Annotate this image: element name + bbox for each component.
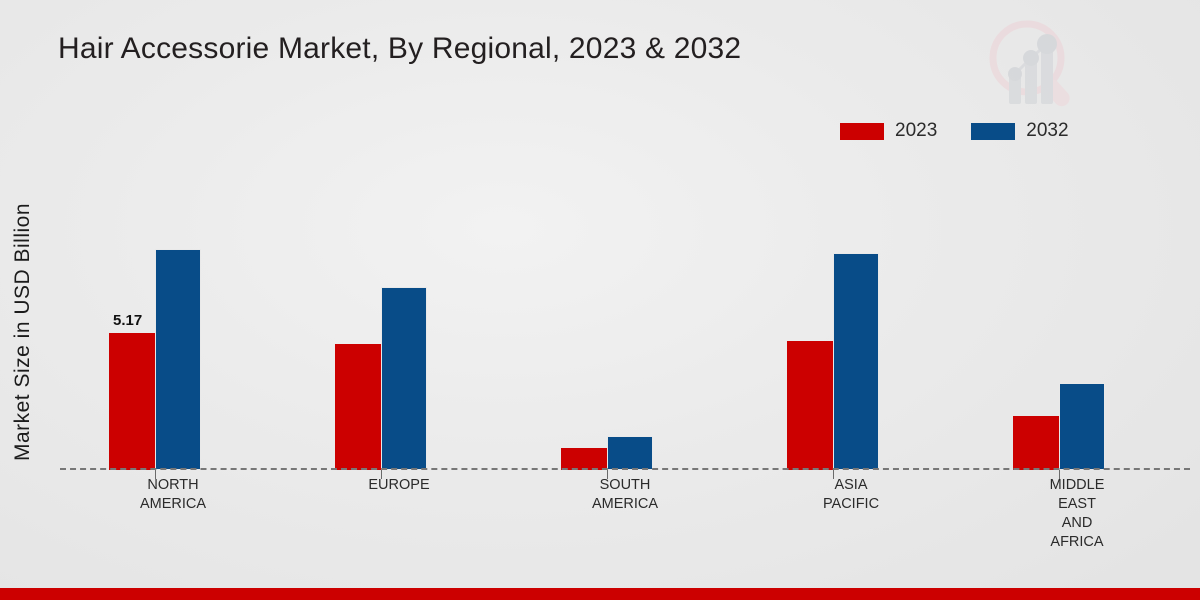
- category-label-line: MIDDLE: [964, 476, 1190, 495]
- bar-2023[interactable]: [335, 344, 381, 470]
- bar-value-label: 5.17: [113, 312, 142, 329]
- bar-group: MIDDLEEASTANDAFRICA: [964, 150, 1190, 470]
- bottom-accent-band: [0, 588, 1200, 600]
- bar-2032[interactable]: [1059, 383, 1105, 470]
- legend-swatch-2023: [840, 123, 884, 140]
- bar-2032[interactable]: [833, 253, 879, 470]
- bar-2032[interactable]: [381, 287, 427, 470]
- category-label-line: EAST: [964, 495, 1190, 514]
- bar-2023[interactable]: [1013, 416, 1059, 470]
- category-label-line: AMERICA: [60, 495, 286, 514]
- legend-label-2023: 2023: [895, 120, 937, 142]
- plot-area: 5.17NORTHAMERICAEUROPESOUTHAMERICAASIAPA…: [60, 150, 1190, 470]
- bar-pair: [335, 287, 427, 470]
- category-label: NORTHAMERICA: [60, 476, 286, 514]
- category-label-line: SOUTH: [512, 476, 738, 495]
- category-label-line: AND: [964, 514, 1190, 533]
- bar-2032[interactable]: [155, 249, 201, 470]
- category-label-line: AFRICA: [964, 533, 1190, 552]
- bar-pair: [787, 253, 879, 470]
- bar-group: SOUTHAMERICA: [512, 150, 738, 470]
- category-label-line: ASIA: [738, 476, 964, 495]
- category-label: EUROPE: [286, 476, 512, 495]
- bar-group: 5.17NORTHAMERICA: [60, 150, 286, 470]
- category-label-line: PACIFIC: [738, 495, 964, 514]
- bar-group: EUROPE: [286, 150, 512, 470]
- category-label-line: NORTH: [60, 476, 286, 495]
- chart-legend: 2023 2032: [840, 120, 1069, 142]
- category-label: MIDDLEEASTANDAFRICA: [964, 476, 1190, 552]
- bar-pair: [561, 436, 653, 470]
- bar-2023[interactable]: [787, 341, 833, 470]
- bar-pair: [1013, 383, 1105, 470]
- x-axis-baseline: [60, 468, 1190, 470]
- legend-label-2032: 2032: [1026, 120, 1068, 142]
- bar-2032[interactable]: [607, 436, 653, 470]
- category-label: SOUTHAMERICA: [512, 476, 738, 514]
- chart-page: Hair Accessorie Market, By Regional, 202…: [0, 0, 1200, 600]
- y-axis-title: Market Size in USD Billion: [11, 167, 35, 497]
- bar-groups: 5.17NORTHAMERICAEUROPESOUTHAMERICAASIAPA…: [60, 150, 1190, 470]
- legend-item-2023[interactable]: 2023: [840, 120, 937, 142]
- bar-2023[interactable]: [561, 448, 607, 470]
- category-label: ASIAPACIFIC: [738, 476, 964, 514]
- magnifier-bar-chart-logo-icon: [975, 12, 1087, 112]
- page-title: Hair Accessorie Market, By Regional, 202…: [58, 32, 741, 66]
- bar-group: ASIAPACIFIC: [738, 150, 964, 470]
- legend-swatch-2032: [971, 123, 1015, 140]
- category-label-line: AMERICA: [512, 495, 738, 514]
- category-label-line: EUROPE: [286, 476, 512, 495]
- legend-item-2032[interactable]: 2032: [971, 120, 1068, 142]
- bar-pair: [109, 249, 201, 470]
- bar-2023[interactable]: [109, 333, 155, 470]
